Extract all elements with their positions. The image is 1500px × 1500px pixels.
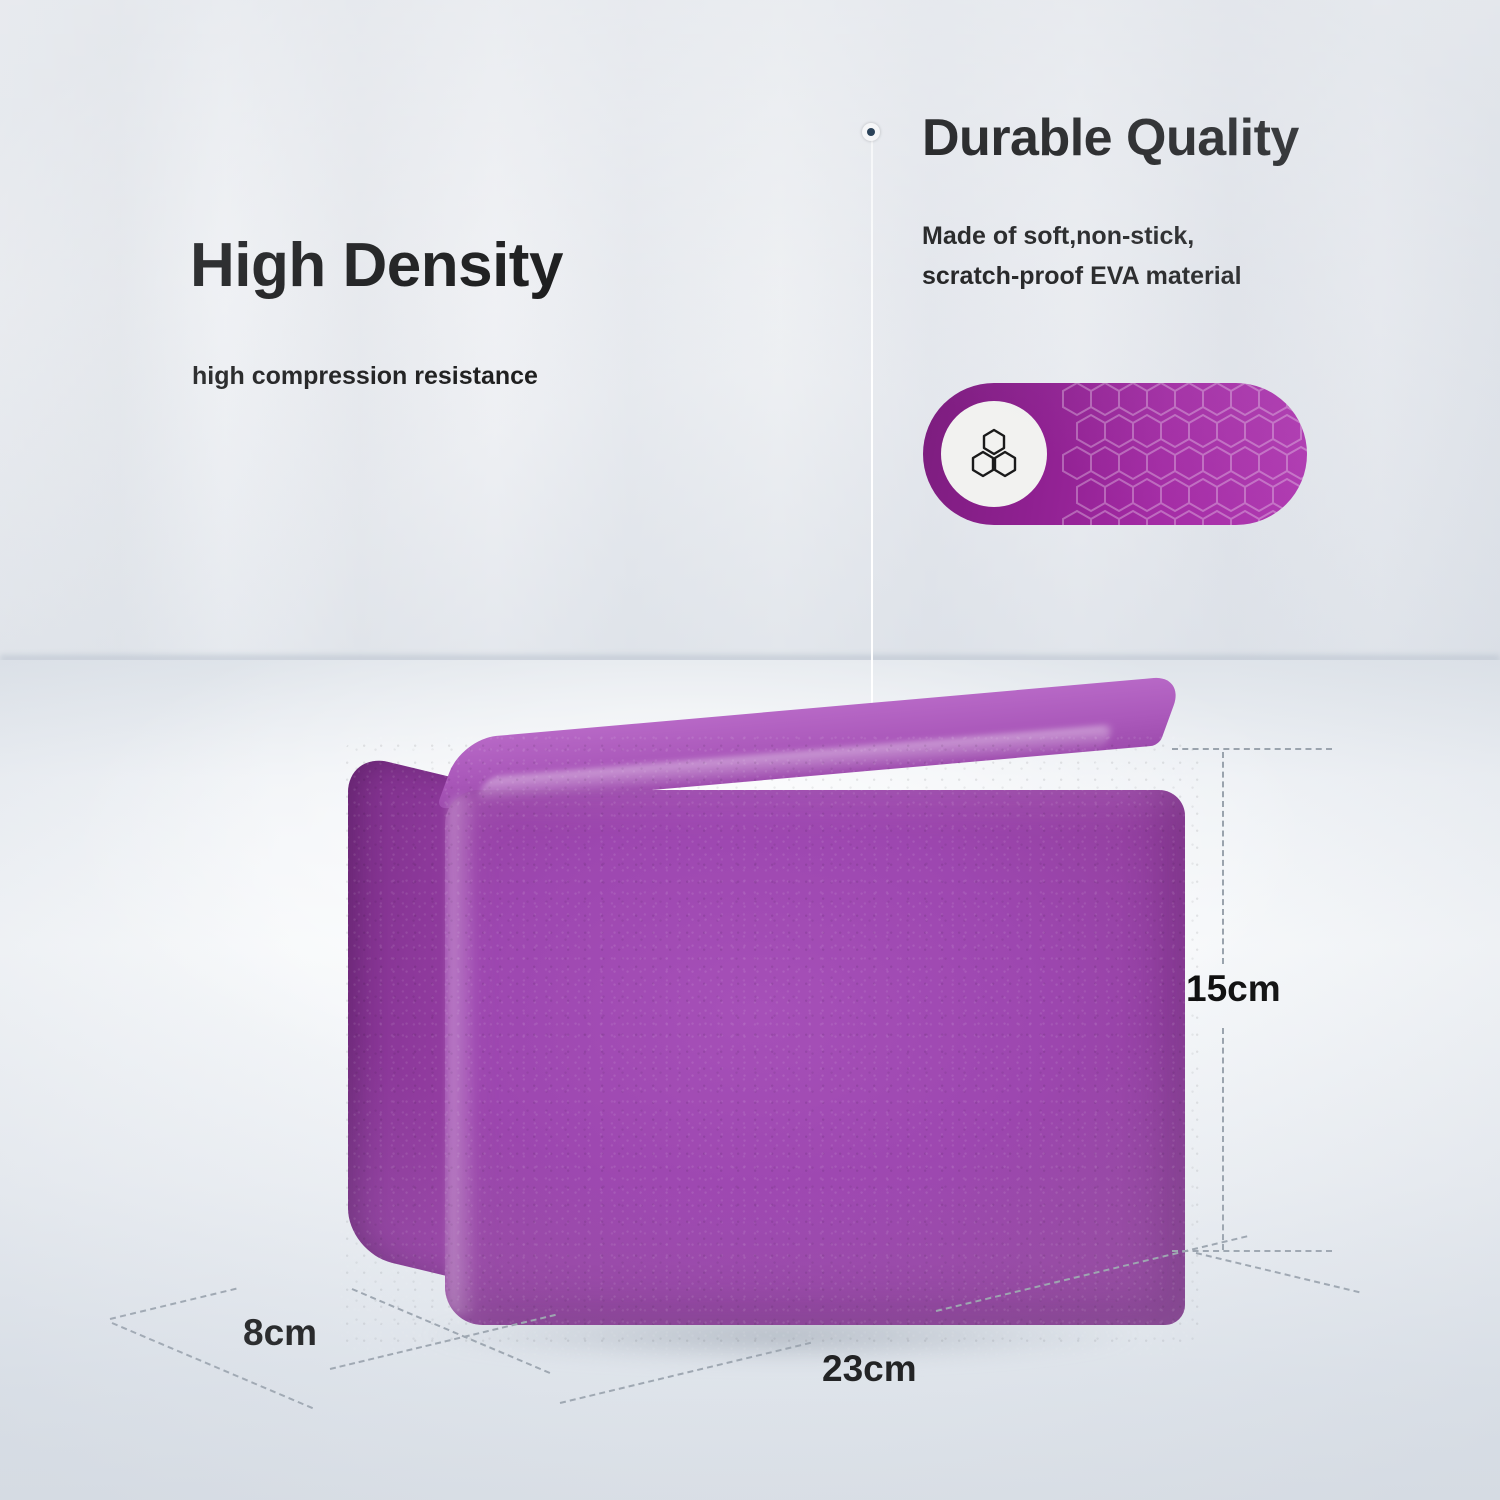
material-badge xyxy=(923,383,1307,525)
durable-quality-title: Durable Quality xyxy=(922,108,1299,168)
yoga-block-front-face xyxy=(445,790,1185,1325)
callout-leader-line xyxy=(871,140,873,748)
dim-height-line-upper xyxy=(1222,752,1224,964)
honeycomb-icon xyxy=(965,425,1023,483)
high-density-title: High Density xyxy=(190,230,563,301)
high-density-subtitle: high compression resistance xyxy=(192,362,538,391)
product-infographic: High Density high compression resistance… xyxy=(0,0,1500,1500)
dimension-label-depth: 8cm xyxy=(243,1312,317,1354)
dim-height-line-lower xyxy=(1222,1028,1224,1250)
hexagon-pattern-icon xyxy=(1057,383,1307,525)
callout-marker-top-icon xyxy=(862,123,880,141)
dim-height-top-tick xyxy=(1172,748,1332,750)
dimension-label-width: 23cm xyxy=(822,1348,917,1390)
yoga-block-product xyxy=(340,735,1200,1355)
badge-icon-container xyxy=(941,401,1047,507)
background-wall-shading xyxy=(0,0,1500,700)
durable-quality-body-line-1: Made of soft,non-stick, xyxy=(922,222,1194,251)
dimension-label-height: 15cm xyxy=(1186,968,1281,1010)
yoga-block-edge-sheen xyxy=(448,795,478,1315)
durable-quality-body-line-2: scratch-proof EVA material xyxy=(922,262,1242,291)
